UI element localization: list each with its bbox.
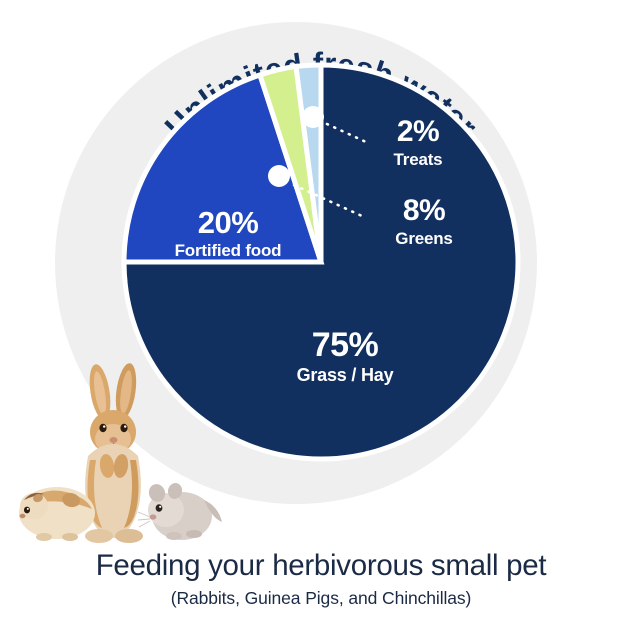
caption-main: Feeding your herbivorous small pet (0, 549, 642, 583)
chinchilla-photo (138, 482, 222, 540)
slice-name-greens: Greens (352, 230, 496, 247)
slice-percent-grass-hay: 75% (239, 328, 451, 362)
slice-percent-treats: 2% (352, 117, 484, 147)
caption-sub: (Rabbits, Guinea Pigs, and Chinchillas) (0, 588, 642, 609)
slice-name-fortified-food: Fortified food (130, 242, 326, 259)
slice-name-grass-hay: Grass / Hay (239, 366, 451, 384)
slice-label-grass-hay: 75% Grass / Hay (239, 328, 451, 384)
slice-name-treats: Treats (352, 151, 484, 168)
infographic-canvas: Unlimited fresh water 75% Grass / Hay 20… (0, 0, 642, 642)
slice-label-fortified-food: 20% Fortified food (130, 207, 326, 259)
animal-photo-group (14, 360, 226, 550)
guinea-pig-photo (19, 487, 95, 541)
greens-dot-marker (268, 165, 290, 187)
slice-label-greens: 8% Greens (352, 196, 496, 247)
slice-percent-fortified-food: 20% (130, 207, 326, 238)
slice-label-treats: 2% Treats (352, 117, 484, 168)
caption-block: Feeding your herbivorous small pet (Rabb… (0, 549, 642, 609)
treats-dot-marker (302, 106, 324, 128)
slice-percent-greens: 8% (352, 196, 496, 226)
